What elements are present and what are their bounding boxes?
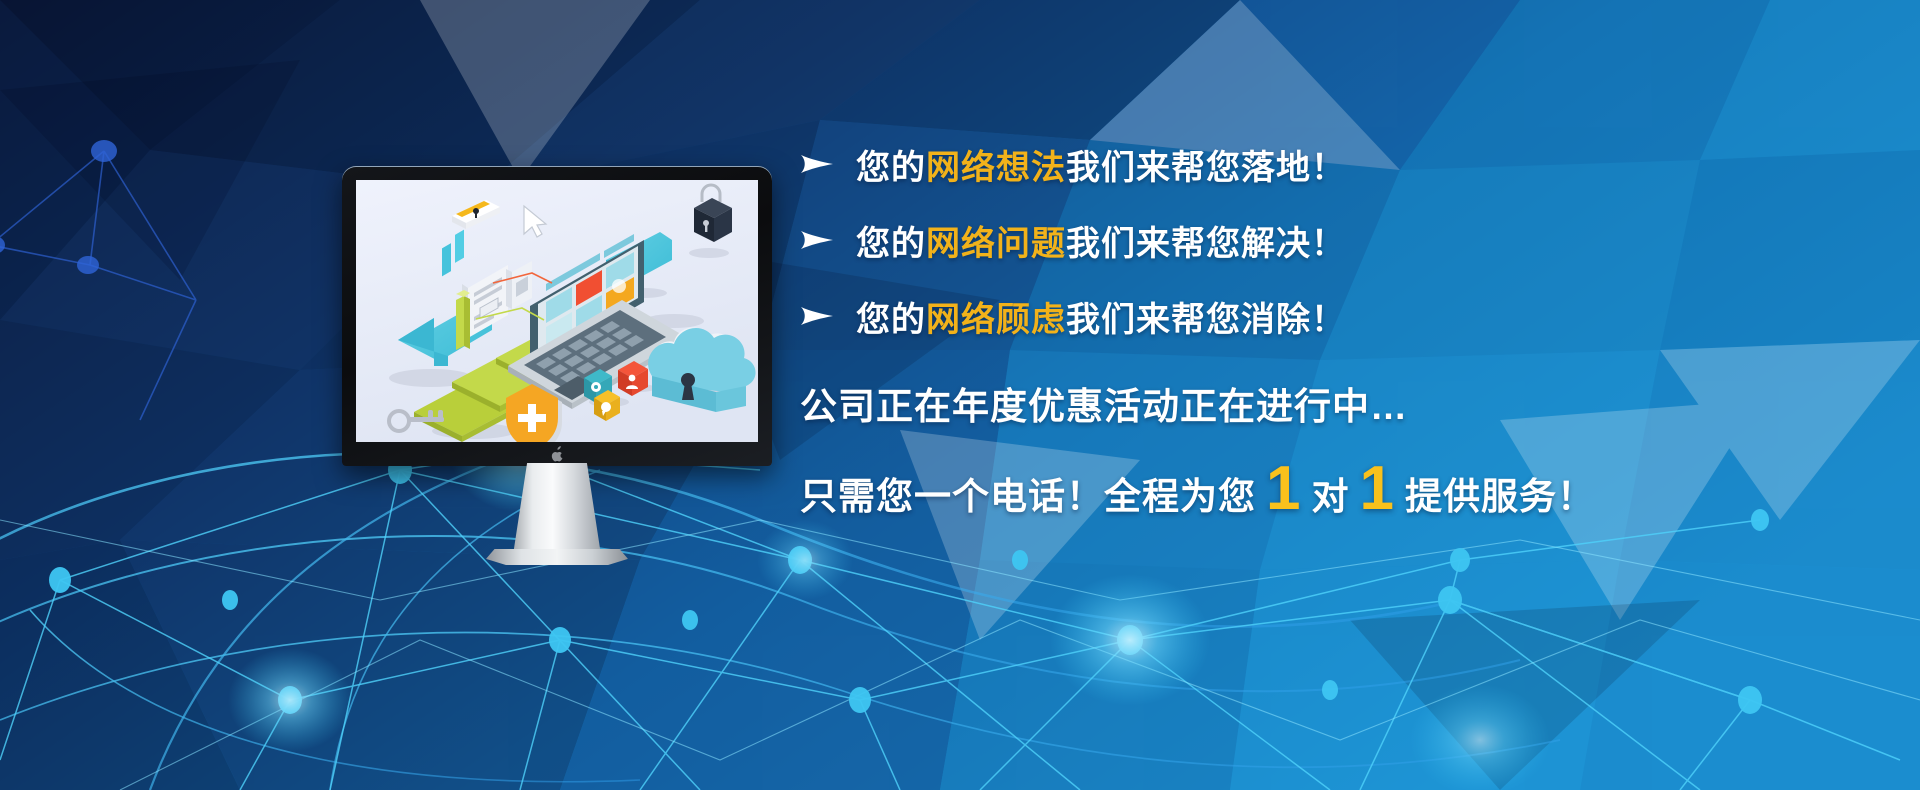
bullet-highlight-3: 网络顾虑 xyxy=(926,301,1066,339)
cta-part-2: 提供服务！ xyxy=(1405,466,1595,520)
pencil-icon xyxy=(456,290,470,350)
apple-display xyxy=(342,166,772,486)
display-foot xyxy=(486,549,628,565)
bullet-suffix-3: 我们来帮您消除！ xyxy=(1066,301,1346,339)
arrow-bullet-icon xyxy=(800,229,856,251)
cta-number-second: 1 xyxy=(1349,458,1404,520)
arrow-bullet-icon xyxy=(800,305,856,327)
marketing-copy: 您的网络想法我们来帮您落地！ 您的网络问题我们来帮您解决！ 您的网络顾虑我们来帮… xyxy=(800,126,1860,520)
bullet-highlight-2: 网络问题 xyxy=(926,225,1066,263)
promotional-banner: 您的网络想法我们来帮您落地！ 您的网络问题我们来帮您解决！ 您的网络顾虑我们来帮… xyxy=(0,0,1920,790)
bullet-row-2: 您的网络问题我们来帮您解决！ xyxy=(800,202,1860,278)
cta-number-first: 1 xyxy=(1256,458,1311,520)
bullet-prefix-2: 您的 xyxy=(856,225,926,263)
isometric-network-security-illustration xyxy=(356,180,758,442)
arrow-bullet-icon xyxy=(800,153,856,175)
bullet-suffix-1: 我们来帮您落地！ xyxy=(1066,149,1346,187)
bullet-row-1: 您的网络想法我们来帮您落地！ xyxy=(800,126,1860,202)
call-to-action-line: 只需您一个电话！全程为您 1 对 1 提供服务！ xyxy=(800,458,1860,520)
bullet-prefix-1: 您的 xyxy=(856,149,926,187)
display-stand xyxy=(513,463,601,555)
display-bezel xyxy=(342,166,772,466)
bullet-suffix-2: 我们来帮您解决！ xyxy=(1066,225,1346,263)
apple-logo-icon xyxy=(342,442,772,466)
bullet-text-3: 您的网络顾虑我们来帮您消除！ xyxy=(856,292,1346,341)
cta-part-1: 只需您一个电话！全程为您 xyxy=(800,466,1256,520)
bullet-highlight-1: 网络想法 xyxy=(926,149,1066,187)
promo-line: 公司正在年度优惠活动正在进行中… xyxy=(800,376,1860,430)
cta-middle: 对 xyxy=(1311,466,1349,520)
bullet-prefix-3: 您的 xyxy=(856,301,926,339)
display-screen xyxy=(356,180,758,442)
bullet-row-3: 您的网络顾虑我们来帮您消除！ xyxy=(800,278,1860,354)
bullet-text-1: 您的网络想法我们来帮您落地！ xyxy=(856,140,1346,189)
bullet-text-2: 您的网络问题我们来帮您解决！ xyxy=(856,216,1346,265)
